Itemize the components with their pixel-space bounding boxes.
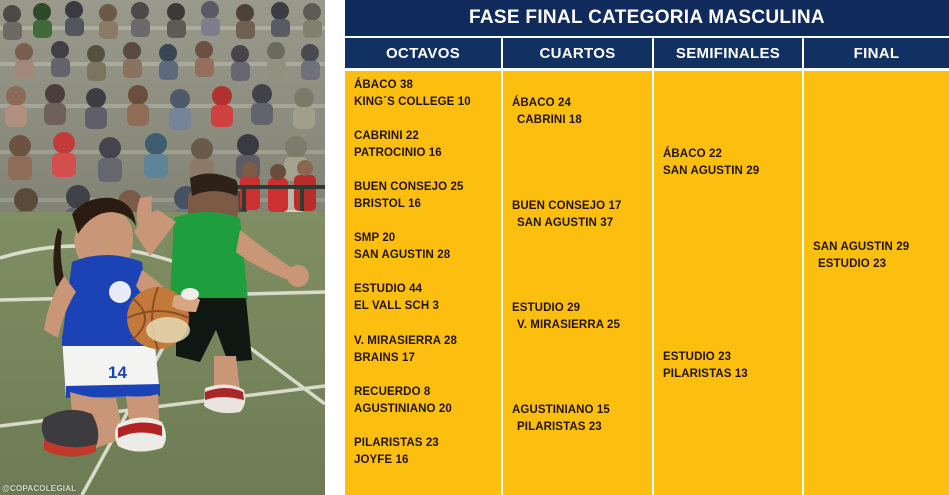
match-line-bottom: SAN AGUSTIN 37 (512, 215, 648, 232)
bracket-column-cuartos: ÁBACO 24 CABRINI 18 BUEN CONSEJO 17 SAN … (503, 71, 654, 495)
match-line-top: SMP 20 (354, 230, 497, 247)
match-cuartos-3: ESTUDIO 29 V. MIRASIERRA 25 (503, 300, 652, 334)
match-line-bottom: KING´S COLLEGE 10 (354, 94, 497, 111)
match-line-top: V. MIRASIERRA 28 (354, 333, 497, 350)
match-line-top: PILARISTAS 23 (354, 435, 497, 452)
match-line-bottom: PATROCINIO 16 (354, 145, 497, 162)
match-line-top: SAN AGUSTIN 29 (813, 239, 945, 256)
match-line-top: AGUSTINIANO 15 (512, 402, 648, 419)
match-line-bottom: JOYFE 16 (354, 452, 497, 469)
photo-illustration: 14 (0, 0, 325, 495)
match-line-bottom: EL VALL SCH 3 (354, 298, 497, 315)
match-line-bottom: AGUSTINIANO 20 (354, 401, 497, 418)
bracket-body: ÁBACO 38 KING´S COLLEGE 10 CABRINI 22 PA… (345, 71, 949, 495)
match-line-top: ÁBACO 22 (663, 146, 798, 163)
bracket-column-semifinales: ÁBACO 22 SAN AGUSTIN 29 ESTUDIO 23 PILAR… (654, 71, 804, 495)
match-octavos-3: BUEN CONSEJO 25 BRISTOL 16 (345, 179, 501, 213)
match-octavos-8: PILARISTAS 23 JOYFE 16 (345, 435, 501, 469)
column-header-semifinales: SEMIFINALES (654, 38, 804, 68)
match-octavos-2: CABRINI 22 PATROCINIO 16 (345, 128, 501, 162)
layout-gutter (325, 0, 345, 495)
match-cuartos-1: ÁBACO 24 CABRINI 18 (503, 95, 652, 129)
match-semifinal-2: ESTUDIO 23 PILARISTAS 13 (654, 349, 802, 383)
match-line-top: BUEN CONSEJO 17 (512, 198, 648, 215)
match-octavos-6: V. MIRASIERRA 28 BRAINS 17 (345, 333, 501, 367)
match-line-top: CABRINI 22 (354, 128, 497, 145)
column-header-final: FINAL (804, 38, 949, 68)
match-line-top: ESTUDIO 23 (663, 349, 798, 366)
match-semifinal-1: ÁBACO 22 SAN AGUSTIN 29 (654, 146, 802, 180)
bracket-column-final: SAN AGUSTIN 29 ESTUDIO 23 (804, 71, 949, 495)
basketball-photo: 14 @COPACOLEGIAL (0, 0, 325, 495)
match-line-bottom: V. MIRASIERRA 25 (512, 317, 648, 334)
match-octavos-7: RECUERDO 8 AGUSTINIANO 20 (345, 384, 501, 418)
column-header-octavos: OCTAVOS (345, 38, 503, 68)
tournament-bracket: FASE FINAL CATEGORIA MASCULINA OCTAVOS C… (345, 0, 949, 495)
match-line-bottom: ESTUDIO 23 (813, 256, 945, 273)
bracket-column-octavos: ÁBACO 38 KING´S COLLEGE 10 CABRINI 22 PA… (345, 71, 503, 495)
match-cuartos-4: AGUSTINIANO 15 PILARISTAS 23 (503, 402, 652, 436)
match-line-top: ÁBACO 38 (354, 77, 497, 94)
match-line-bottom: SAN AGUSTIN 28 (354, 247, 497, 264)
match-octavos-5: ESTUDIO 44 EL VALL SCH 3 (345, 281, 501, 315)
bracket-title: FASE FINAL CATEGORIA MASCULINA (345, 0, 949, 36)
match-line-bottom: BRAINS 17 (354, 350, 497, 367)
bracket-column-headers: OCTAVOS CUARTOS SEMIFINALES FINAL (345, 38, 949, 68)
photo-watermark: @COPACOLEGIAL (2, 484, 76, 493)
match-octavos-4: SMP 20 SAN AGUSTIN 28 (345, 230, 501, 264)
match-line-top: RECUERDO 8 (354, 384, 497, 401)
column-header-cuartos: CUARTOS (503, 38, 654, 68)
match-line-bottom: PILARISTAS 13 (663, 366, 798, 383)
match-line-bottom: CABRINI 18 (512, 112, 648, 129)
match-line-bottom: SAN AGUSTIN 29 (663, 163, 798, 180)
match-octavos-1: ÁBACO 38 KING´S COLLEGE 10 (345, 77, 501, 111)
match-line-top: ESTUDIO 29 (512, 300, 648, 317)
match-cuartos-2: BUEN CONSEJO 17 SAN AGUSTIN 37 (503, 198, 652, 232)
svg-text:14: 14 (108, 363, 127, 382)
match-line-top: BUEN CONSEJO 25 (354, 179, 497, 196)
page-root: 14 @COPACOLEGIAL (0, 0, 949, 495)
match-final-1: SAN AGUSTIN 29 ESTUDIO 23 (804, 239, 949, 273)
match-line-bottom: BRISTOL 16 (354, 196, 497, 213)
match-line-top: ÁBACO 24 (512, 95, 648, 112)
match-line-bottom: PILARISTAS 23 (512, 419, 648, 436)
match-line-top: ESTUDIO 44 (354, 281, 497, 298)
